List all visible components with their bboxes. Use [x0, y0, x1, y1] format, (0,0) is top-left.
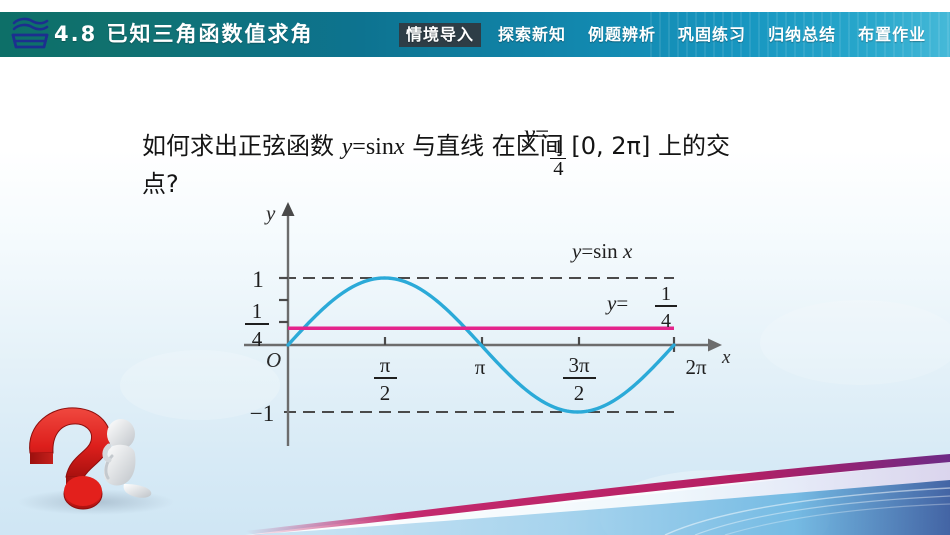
- nav-tabs: 情境导入 探索新知 例题辨析 巩固练习 归纳总结 布置作业: [399, 12, 931, 57]
- legend-label-one-quarter: y= 1 4: [605, 283, 677, 332]
- page-title: 4.8 已知三角函数值求角: [54, 18, 314, 48]
- bottom-ribbon-decoration: [245, 452, 950, 535]
- x-axis-arrow-icon: [708, 339, 722, 352]
- tab-gonggu-lianxi[interactable]: 巩固练习: [673, 24, 751, 46]
- y-axis-arrow-icon: [282, 202, 295, 216]
- y-tick-label-1: 1: [252, 267, 264, 292]
- fn-x: x: [394, 134, 405, 160]
- x-tick-label-3pi-over-2: 3π 2: [563, 353, 596, 405]
- x-tick-label-2pi: 2π: [685, 355, 707, 379]
- question-mark-decoration-icon: [8, 398, 183, 516]
- svg-text:3π: 3π: [568, 353, 590, 377]
- svg-text:π: π: [380, 353, 391, 377]
- tab-buzhi-zuoye[interactable]: 布置作业: [853, 24, 931, 46]
- svg-text:4: 4: [252, 327, 263, 351]
- fn-eq-sin: =sin: [352, 134, 394, 160]
- book-wave-logo-icon: [8, 14, 52, 56]
- svg-text:1: 1: [661, 283, 671, 305]
- inline-eq-numerator: 1: [550, 137, 566, 158]
- svg-text:1: 1: [252, 299, 263, 323]
- question-seg-b: 与直线: [405, 132, 492, 160]
- question-seg-a: 如何求出正弦函数: [142, 132, 342, 160]
- tab-qingjing-daoru[interactable]: 情境导入: [399, 23, 481, 47]
- x-axis-label: x: [721, 347, 731, 368]
- header-bar: 4.8 已知三角函数值求角 情境导入 探索新知 例题辨析 巩固练习 归纳总结 布…: [0, 12, 950, 57]
- tab-liti-bianxi[interactable]: 例题辨析: [583, 24, 661, 46]
- x-tick-label-pi: π: [475, 355, 486, 379]
- svg-text:y=sin x: y=sin x: [570, 239, 633, 263]
- y-axis-label: y: [264, 201, 276, 225]
- inline-eq-sign: =: [535, 121, 549, 148]
- legend-label-sine: y=sin x: [570, 239, 633, 263]
- x-tick-label-pi-over-2: π 2: [374, 353, 397, 405]
- tab-guina-zongjie[interactable]: 归纳总结: [763, 24, 841, 46]
- inline-eq-y: y: [524, 121, 535, 148]
- tab-tansuo-xinzhi[interactable]: 探索新知: [493, 24, 571, 46]
- svg-text:2: 2: [574, 381, 585, 405]
- fn-y: y: [342, 134, 353, 160]
- slide-canvas: 4.8 已知三角函数值求角 情境导入 探索新知 例题辨析 巩固练习 归纳总结 布…: [0, 0, 950, 535]
- bg-bubble: [760, 300, 950, 385]
- inline-eq-denominator: 4: [550, 158, 566, 180]
- inline-eq-fraction: 1 4: [550, 137, 566, 179]
- svg-text:y=: y=: [605, 291, 628, 315]
- origin-label: O: [266, 348, 281, 372]
- svg-text:4: 4: [661, 310, 671, 332]
- y-tick-label-one-quarter: 1 4: [245, 299, 269, 351]
- sine-function-chart: x y O 1 1 4 −1 π 2 π 3π: [222, 196, 732, 446]
- inline-equation-y-equals-one-quarter: y= 1 4: [524, 120, 567, 179]
- svg-text:2: 2: [380, 381, 391, 405]
- y-tick-label-neg1: −1: [250, 401, 274, 426]
